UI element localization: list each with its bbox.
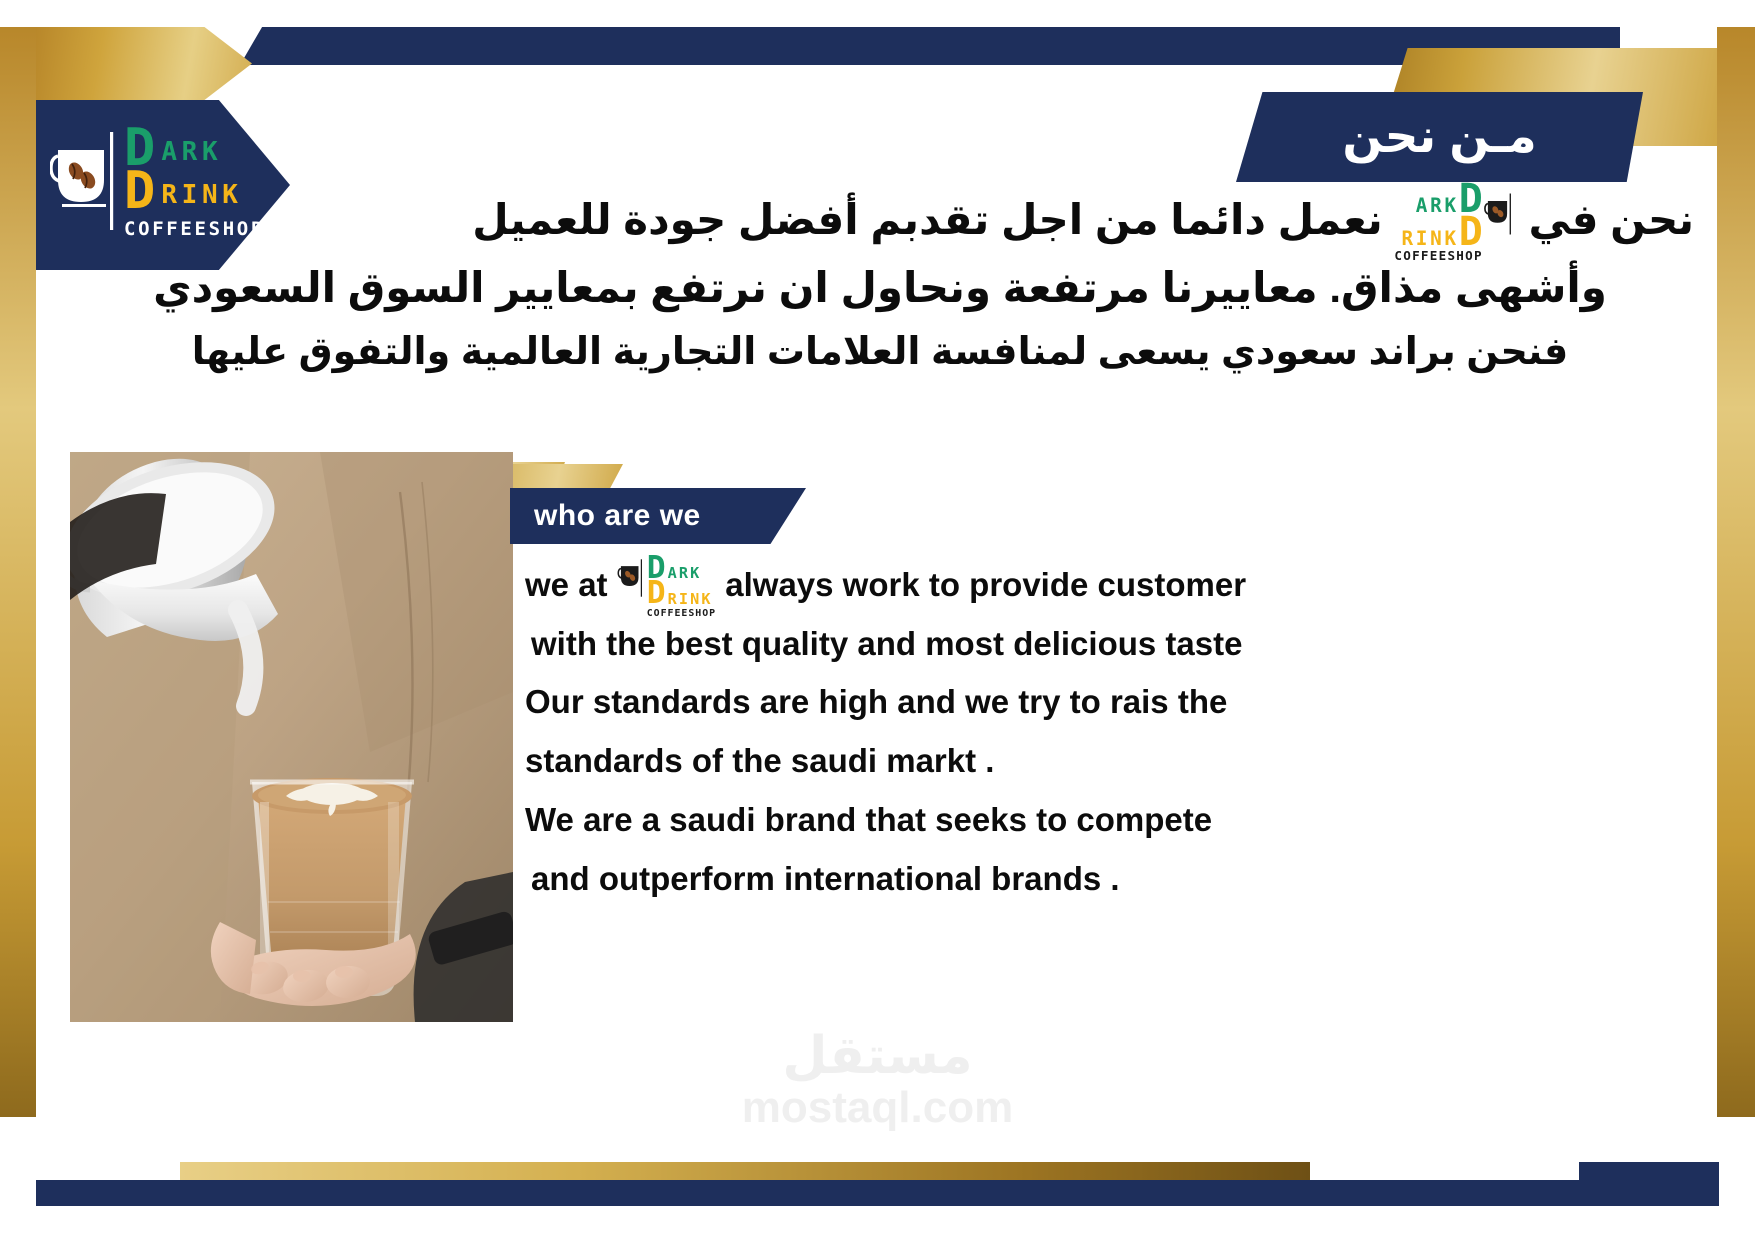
- english-body: we at D ARK D RINK: [525, 556, 1685, 908]
- brand-dark-rest: ARK: [1416, 198, 1459, 214]
- english-line-1: we at D ARK D RINK: [525, 556, 1685, 615]
- english-line-1-after: always work to provide customer: [725, 566, 1246, 603]
- arabic-line-1-before: نحن في: [1529, 196, 1695, 243]
- coffee-cup-icon: [617, 557, 647, 618]
- english-line-3: Our standards are high and we try to rai…: [525, 673, 1685, 732]
- arabic-line-2: وأشهى مذاق. معاييرنا مرتفعة ونحاول ان نر…: [60, 254, 1700, 322]
- watermark-url-text: mostaql.com: [0, 1084, 1755, 1132]
- footer-navy-bar: [36, 1180, 1719, 1206]
- left-gold-strip: [0, 27, 36, 1117]
- arabic-title-banner: مـن نحن: [1236, 92, 1643, 182]
- right-gold-strip: [1717, 27, 1755, 1117]
- arabic-line-1-after: نعمل دائما من اجل تقدبم أفضل جودة للعميل: [472, 196, 1383, 243]
- brand-drink-d: D: [647, 581, 666, 607]
- english-line-6: and outperform international brands .: [525, 850, 1685, 909]
- english-badge-text: who are we: [510, 499, 701, 533]
- inline-brand-wordmark: D ARK D RINK COFFEESHOP: [1394, 183, 1482, 263]
- inline-brand-logo-arabic: D ARK D RINK COFFEESHOP: [1394, 197, 1516, 250]
- top-gold-chevron: [36, 27, 252, 100]
- brand-drink-rest: RINK: [1401, 231, 1458, 247]
- english-badge: who are we: [510, 488, 806, 544]
- watermark-arabic-text: مستقل: [0, 1030, 1755, 1082]
- arabic-line-3: فنحن براند سعودي يسعى لمنافسة العلامات ا…: [60, 322, 1700, 384]
- english-line-5: We are a saudi brand that seeks to compe…: [525, 791, 1685, 850]
- inline-brand-wordmark: D ARK D RINK COFFEESHOP: [647, 556, 716, 619]
- arabic-title-text: مـن نحن: [1342, 112, 1536, 163]
- brand-drink-rest: RINK: [668, 593, 713, 605]
- brand-drink-d: D: [1459, 216, 1483, 249]
- inline-brand-logo-english: D ARK D RINK COFFEESHOP: [617, 567, 716, 608]
- arabic-body: نحن في D ARK D RINK: [60, 186, 1700, 384]
- brand-dark-rest: ARK: [668, 567, 702, 579]
- english-line-1-before: we at: [525, 566, 608, 603]
- latte-pour-photo: [70, 452, 513, 1022]
- arabic-line-1: نحن في D ARK D RINK: [60, 186, 1700, 254]
- english-line-2: with the best quality and most delicious…: [525, 615, 1685, 674]
- brand-dark-rest: ARK: [161, 142, 222, 163]
- mostaql-watermark: مستقل mostaql.com: [0, 1030, 1755, 1132]
- coffee-cup-icon: [1483, 189, 1517, 257]
- english-line-4: standards of the saudi markt .: [525, 732, 1685, 791]
